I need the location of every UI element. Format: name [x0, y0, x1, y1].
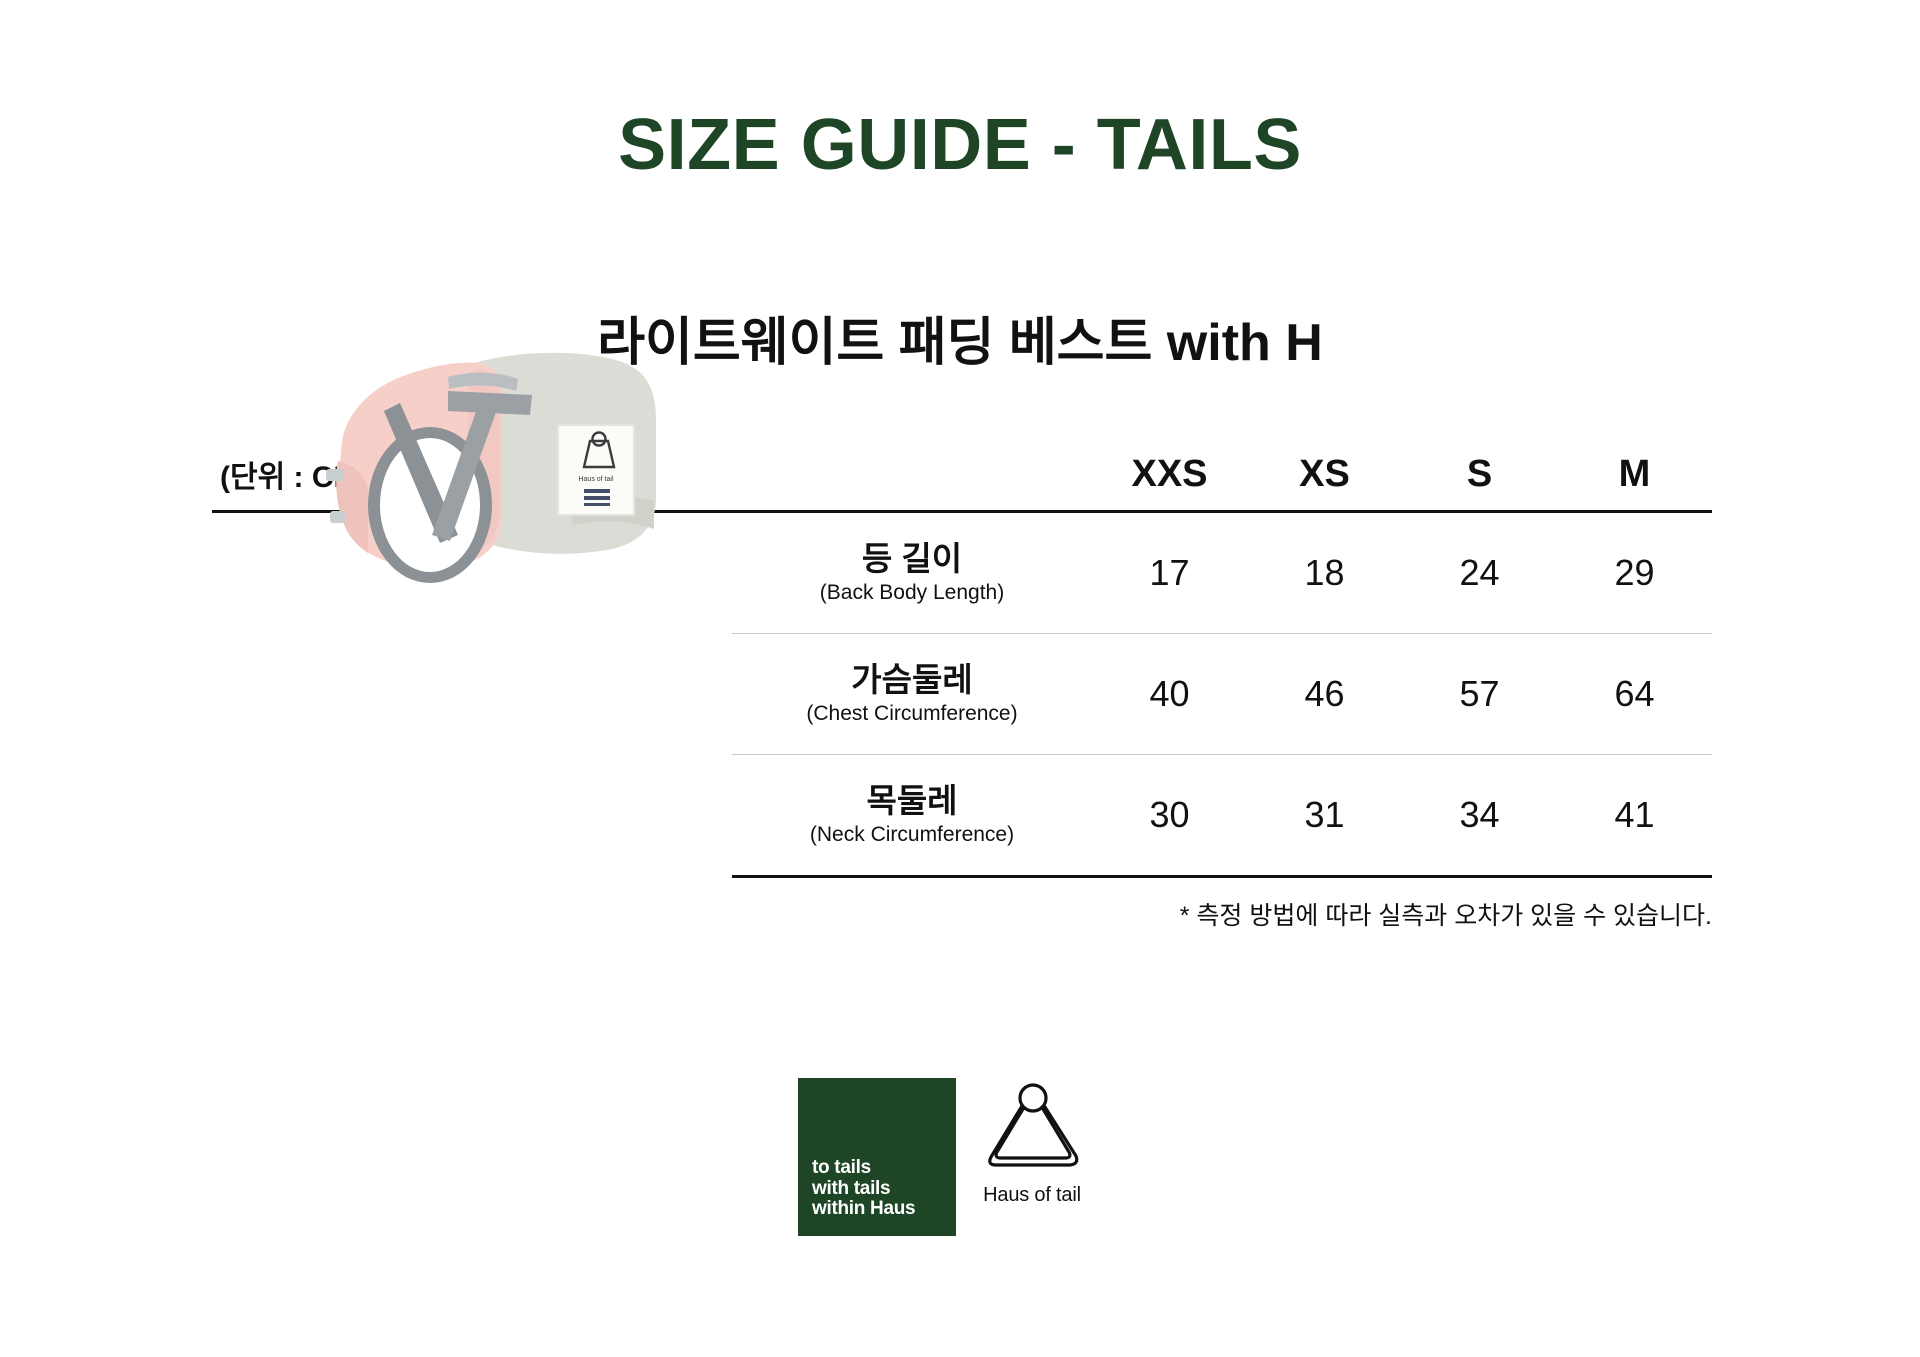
size-guide-page: SIZE GUIDE - TAILS 라이트웨이트 패딩 베스트 with H …: [0, 0, 1920, 1357]
metric-en: (Chest Circumference): [733, 702, 1091, 726]
size-header-m: M: [1557, 452, 1712, 512]
cell-chest-circumference-xxs: 40: [1092, 634, 1247, 755]
brand-logo-mark: Haus of tail: [972, 1078, 1092, 1207]
brand-slogan: to tails with tails within Haus: [812, 1158, 915, 1220]
cell-neck-circumference-s: 34: [1402, 755, 1557, 877]
metric-en: (Neck Circumference): [733, 823, 1091, 847]
cell-neck-circumference-m: 41: [1557, 755, 1712, 877]
brand-name: Haus of tail: [983, 1184, 1081, 1207]
metric-label-back-body-length: 등 길이 (Back Body Length): [732, 512, 1092, 634]
measurement-disclaimer: * 측정 방법에 따라 실측과 오차가 있을 수 있습니다.: [0, 896, 1712, 932]
metric-ko: 등 길이: [733, 541, 1091, 578]
size-header-xs: XS: [1247, 452, 1402, 512]
svg-text:Haus of tail: Haus of tail: [578, 476, 613, 483]
metric-en: (Back Body Length): [733, 581, 1091, 605]
cell-neck-circumference-xs: 31: [1247, 755, 1402, 877]
size-table-container: (단위 : CM) XXS XS S M: [212, 452, 1712, 878]
cell-neck-circumference-xxs: 30: [1092, 755, 1247, 877]
metric-label-neck-circumference: 목둘레 (Neck Circumference): [732, 755, 1092, 877]
cell-chest-circumference-xs: 46: [1247, 634, 1402, 755]
metric-ko: 가슴둘레: [733, 662, 1091, 699]
brand-logo-square: to tails with tails within Haus: [798, 1078, 956, 1236]
table-row: Haus of tail 등 길이 (Back Body Length): [212, 512, 1712, 634]
triangle-loop-icon: [978, 1082, 1086, 1180]
cell-chest-circumference-m: 64: [1557, 634, 1712, 755]
metric-label-chest-circumference: 가슴둘레 (Chest Circumference): [732, 634, 1092, 755]
product-image: Haus of tail: [272, 329, 672, 599]
cell-back-body-length-xs: 18: [1247, 512, 1402, 634]
brand-logo-area: to tails with tails within Haus Haus of …: [798, 1078, 1092, 1236]
size-header-s: S: [1402, 452, 1557, 512]
header-spacer: [732, 452, 1092, 512]
cell-back-body-length-m: 29: [1557, 512, 1712, 634]
size-header-xxs: XXS: [1092, 452, 1247, 512]
product-image-cell: Haus of tail: [212, 512, 732, 877]
cell-back-body-length-s: 24: [1402, 512, 1557, 634]
cell-back-body-length-xxs: 17: [1092, 512, 1247, 634]
size-table: (단위 : CM) XXS XS S M: [212, 452, 1712, 878]
cell-chest-circumference-s: 57: [1402, 634, 1557, 755]
page-title: SIZE GUIDE - TAILS: [0, 104, 1920, 186]
metric-ko: 목둘레: [733, 783, 1091, 820]
